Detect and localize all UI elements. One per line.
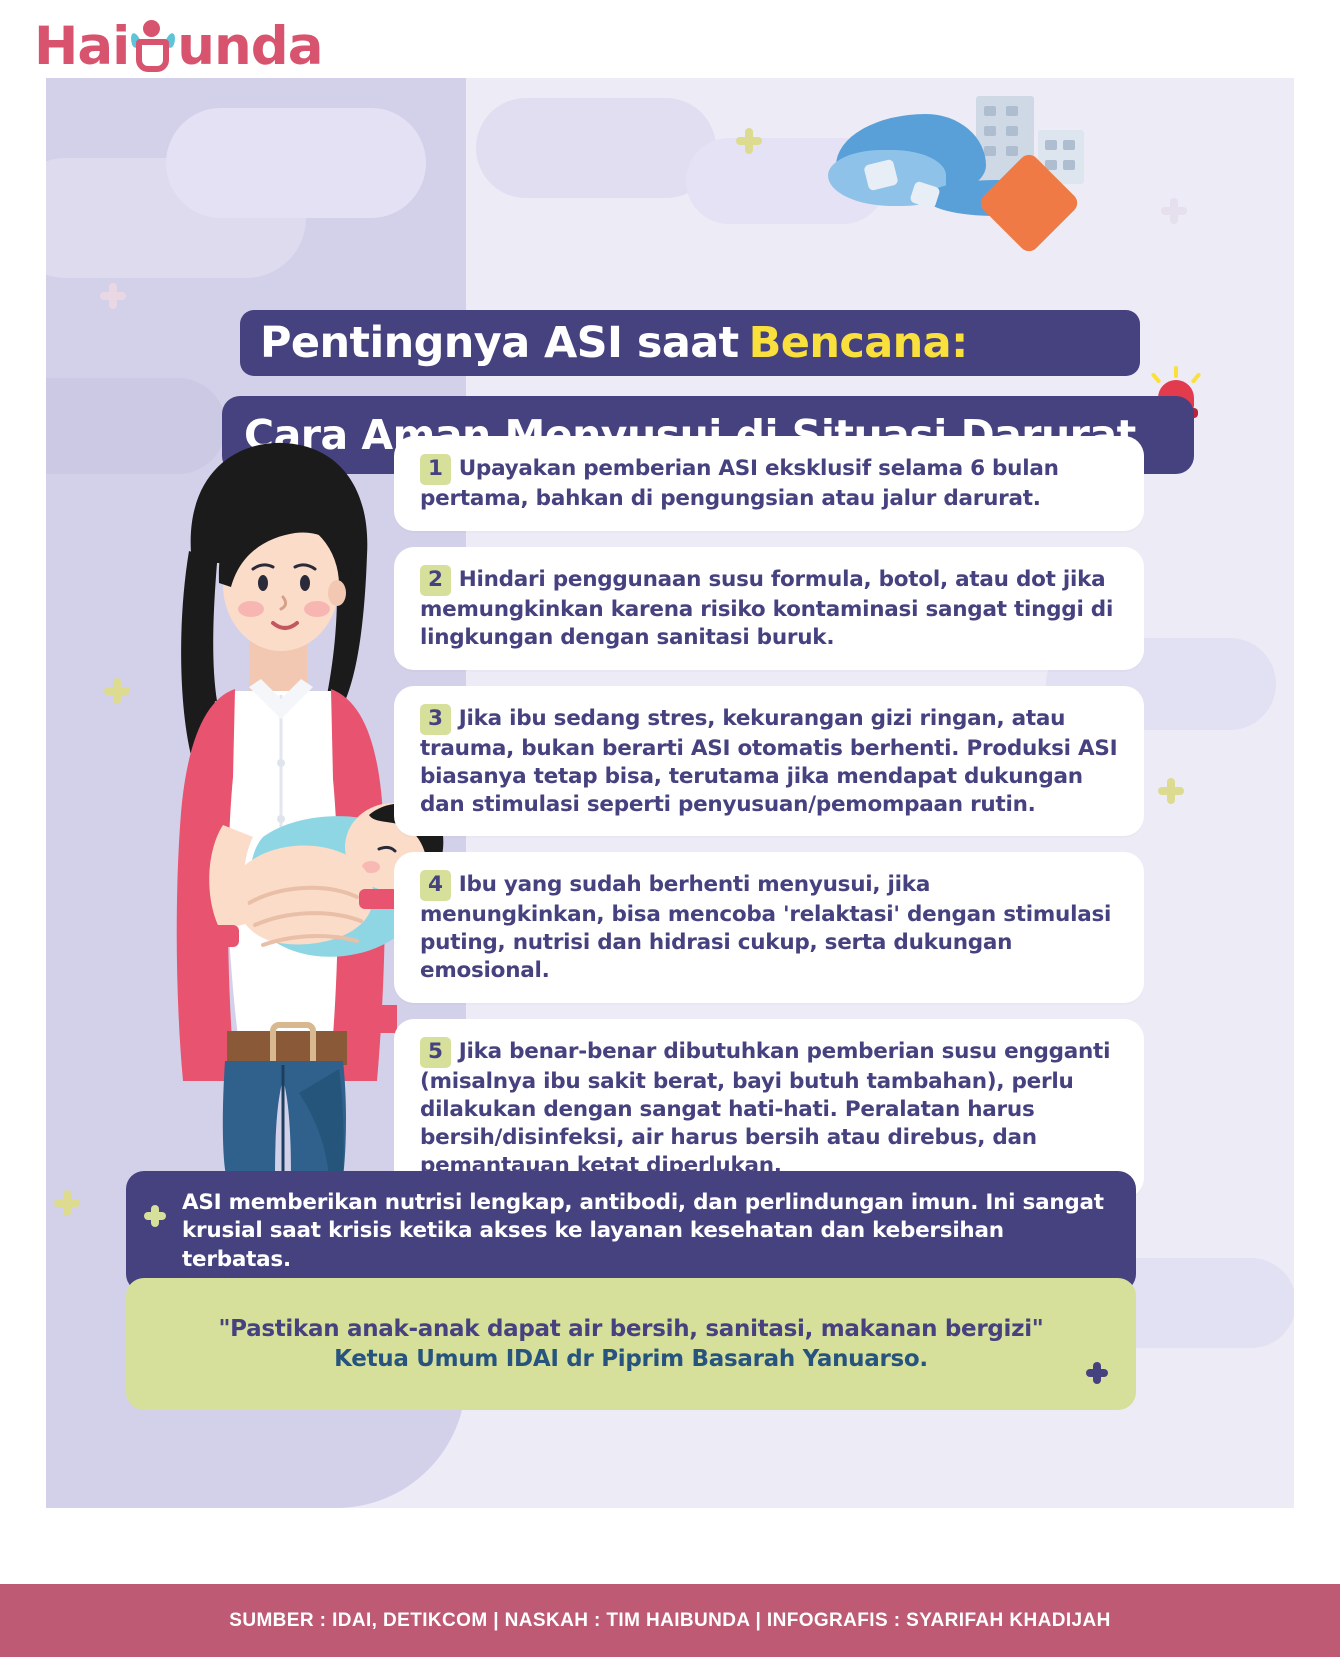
tip-number-badge: 1: [420, 454, 451, 485]
footer-credits-bar: SUMBER : IDAI, DETIKCOM | NASKAH : TIM H…: [0, 1584, 1340, 1657]
plus-decoration-icon: [100, 283, 126, 309]
plus-decoration-icon: [144, 1205, 166, 1227]
plus-decoration-icon: [1086, 1362, 1108, 1384]
tip-number-badge: 4: [420, 870, 451, 901]
haibunda-logo[interactable]: Hai unda: [34, 14, 322, 78]
plus-decoration-icon: [1161, 198, 1187, 224]
tip-body: Hindari penggunaan susu formula, botol, …: [420, 567, 1113, 650]
tip-body: Ibu yang sudah berhenti menyusui, jika m…: [420, 872, 1111, 983]
poster-canvas: Pentingnya ASI saat Bencana: Cara Aman M…: [46, 78, 1294, 1508]
page-title-primary: Pentingnya ASI saat Bencana:: [240, 310, 1140, 376]
logo-text-hai: Hai: [34, 20, 129, 73]
disaster-illustration: [826, 88, 1086, 238]
tip-number-badge: 5: [420, 1037, 451, 1068]
plus-decoration-icon: [1158, 778, 1184, 804]
logo-text-bunda: unda: [177, 20, 322, 73]
tip-text: 5Jika benar-benar dibutuhkan pemberian s…: [420, 1037, 1120, 1180]
tip-text: 1Upayakan pemberian ASI eksklusif selama…: [420, 454, 1120, 513]
mother-child-icon: [130, 20, 176, 72]
tip-body: Jika benar-benar dibutuhkan pemberian su…: [420, 1039, 1110, 1178]
tip-card: 3Jika ibu sedang stres, kekurangan gizi …: [394, 686, 1144, 837]
tip-number-badge: 2: [420, 565, 451, 596]
quote-box: "Pastikan anak-anak dapat air bersih, sa…: [126, 1278, 1136, 1410]
tip-card: 1Upayakan pemberian ASI eksklusif selama…: [394, 436, 1144, 531]
footer-credits-text: SUMBER : IDAI, DETIKCOM | NASKAH : TIM H…: [229, 1610, 1110, 1632]
tip-card: 4Ibu yang sudah berhenti menyusui, jika …: [394, 852, 1144, 1003]
tip-body: Jika ibu sedang stres, kekurangan gizi r…: [420, 706, 1117, 817]
infographic-page: Hai unda: [0, 0, 1340, 1657]
plus-decoration-icon: [736, 128, 762, 154]
summary-text: ASI memberikan nutrisi lengkap, antibodi…: [182, 1189, 1108, 1274]
plus-decoration-icon: [104, 678, 130, 704]
logo-body-shape: [136, 39, 169, 72]
quote-text: "Pastikan anak-anak dapat air bersih, sa…: [219, 1316, 1044, 1342]
title-accent-text: Bencana:: [749, 318, 968, 368]
plus-decoration-icon: [54, 1190, 80, 1216]
cloud-decoration: [166, 108, 426, 218]
tip-text: 3Jika ibu sedang stres, kekurangan gizi …: [420, 704, 1120, 819]
tip-text: 2Hindari penggunaan susu formula, botol,…: [420, 565, 1120, 652]
tip-number-badge: 3: [420, 704, 451, 735]
tip-card: 2Hindari penggunaan susu formula, botol,…: [394, 547, 1144, 670]
logo-head-shape: [143, 20, 160, 37]
summary-banner: ASI memberikan nutrisi lengkap, antibodi…: [126, 1171, 1136, 1292]
cloud-decoration: [476, 98, 716, 198]
tips-card-list: 1Upayakan pemberian ASI eksklusif selama…: [394, 436, 1144, 1214]
quote-attribution: Ketua Umum IDAI dr Piprim Basarah Yanuar…: [334, 1346, 928, 1372]
tip-body: Upayakan pemberian ASI eksklusif selama …: [420, 456, 1059, 511]
tip-text: 4Ibu yang sudah berhenti menyusui, jika …: [420, 870, 1120, 985]
title-main-text: Pentingnya ASI saat: [260, 318, 739, 368]
